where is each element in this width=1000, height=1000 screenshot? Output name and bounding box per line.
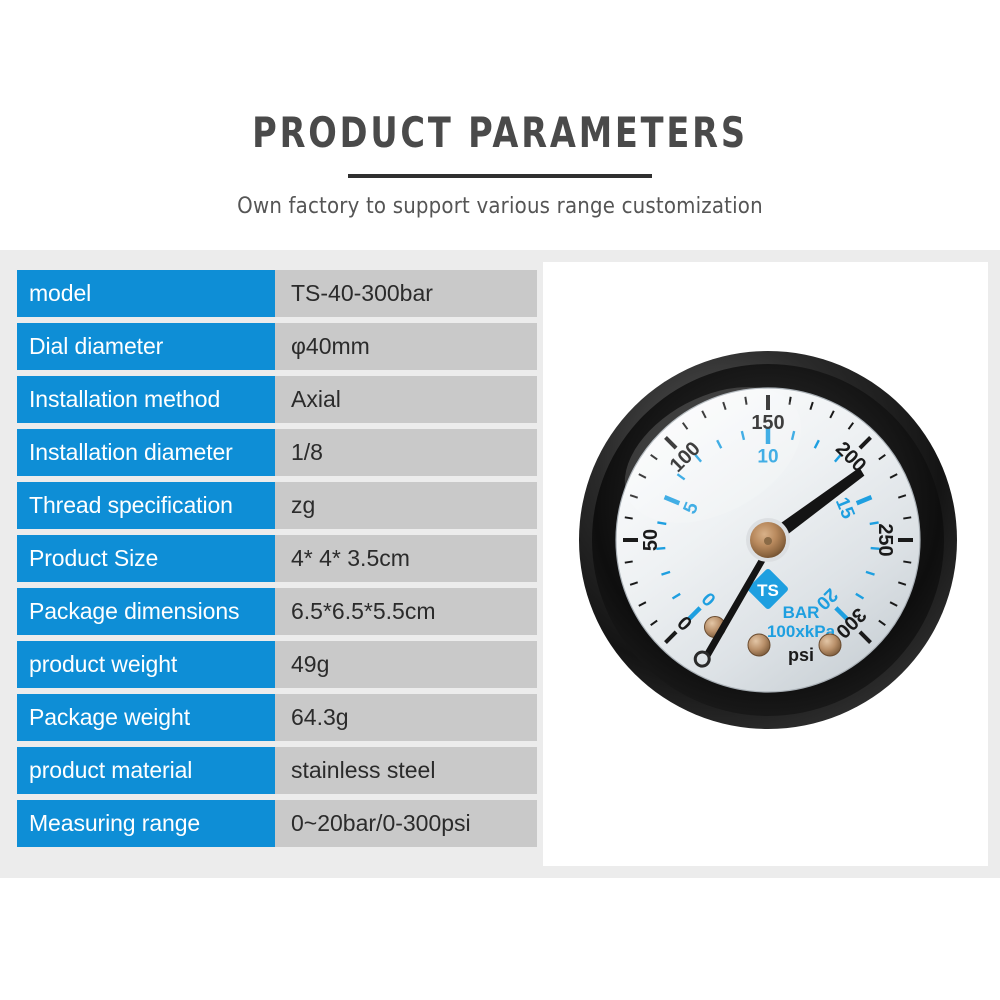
spec-label: Installation method [17, 376, 275, 423]
spec-label: product material [17, 747, 275, 794]
spec-row: Thread specificationzg [17, 482, 537, 529]
spec-value: 4* 4* 3.5cm [275, 535, 537, 582]
spec-row: product weight49g [17, 641, 537, 688]
pressure-gauge-image: 050100150200250300 05101520 TS BAR 100xk… [573, 345, 963, 735]
spec-label: Thread specification [17, 482, 275, 529]
spec-value: 49g [275, 641, 537, 688]
spec-row: modelTS-40-300bar [17, 270, 537, 317]
page-subtitle: Own factory to support various range cus… [50, 194, 950, 219]
page-title: PRODUCT PARAMETERS [100, 108, 900, 157]
gauge-hub-center [764, 537, 772, 545]
spec-row: Measuring range0~20bar/0-300psi [17, 800, 537, 847]
spec-label: Product Size [17, 535, 275, 582]
spec-label: Package dimensions [17, 588, 275, 635]
spec-row: Product Size4* 4* 3.5cm [17, 535, 537, 582]
pressure-gauge-svg: 050100150200250300 05101520 TS BAR 100xk… [573, 345, 963, 735]
spec-value: TS-40-300bar [275, 270, 537, 317]
title-divider [348, 174, 652, 178]
spec-value: φ40mm [275, 323, 537, 370]
spec-value: zg [275, 482, 537, 529]
ts-logo-text: TS [757, 581, 779, 600]
spec-row: Package weight64.3g [17, 694, 537, 741]
spec-label: model [17, 270, 275, 317]
spec-row: Dial diameterφ40mm [17, 323, 537, 370]
spec-label: Dial diameter [17, 323, 275, 370]
spec-label: product weight [17, 641, 275, 688]
spec-row: Installation diameter1/8 [17, 429, 537, 476]
spec-row: product materialstainless steel [17, 747, 537, 794]
spec-row: Package dimensions6.5*6.5*5.5cm [17, 588, 537, 635]
gauge-scale-label: 250 [874, 523, 896, 556]
spec-row: Installation methodAxial [17, 376, 537, 423]
page-header: PRODUCT PARAMETERS Own factory to suppor… [0, 0, 1000, 250]
spec-value: stainless steel [275, 747, 537, 794]
spec-value: 0~20bar/0-300psi [275, 800, 537, 847]
spec-table: modelTS-40-300barDial diameterφ40mmInsta… [17, 270, 537, 853]
spec-label: Package weight [17, 694, 275, 741]
spec-value: 1/8 [275, 429, 537, 476]
spec-value: 6.5*6.5*5.5cm [275, 588, 537, 635]
spec-label: Installation diameter [17, 429, 275, 476]
spec-value: Axial [275, 376, 537, 423]
gauge-scale-label: 50 [640, 529, 662, 551]
spec-value: 64.3g [275, 694, 537, 741]
spec-label: Measuring range [17, 800, 275, 847]
gauge-bar-unit-label: BAR [783, 603, 820, 622]
gauge-psi-unit-label: psi [788, 645, 814, 665]
